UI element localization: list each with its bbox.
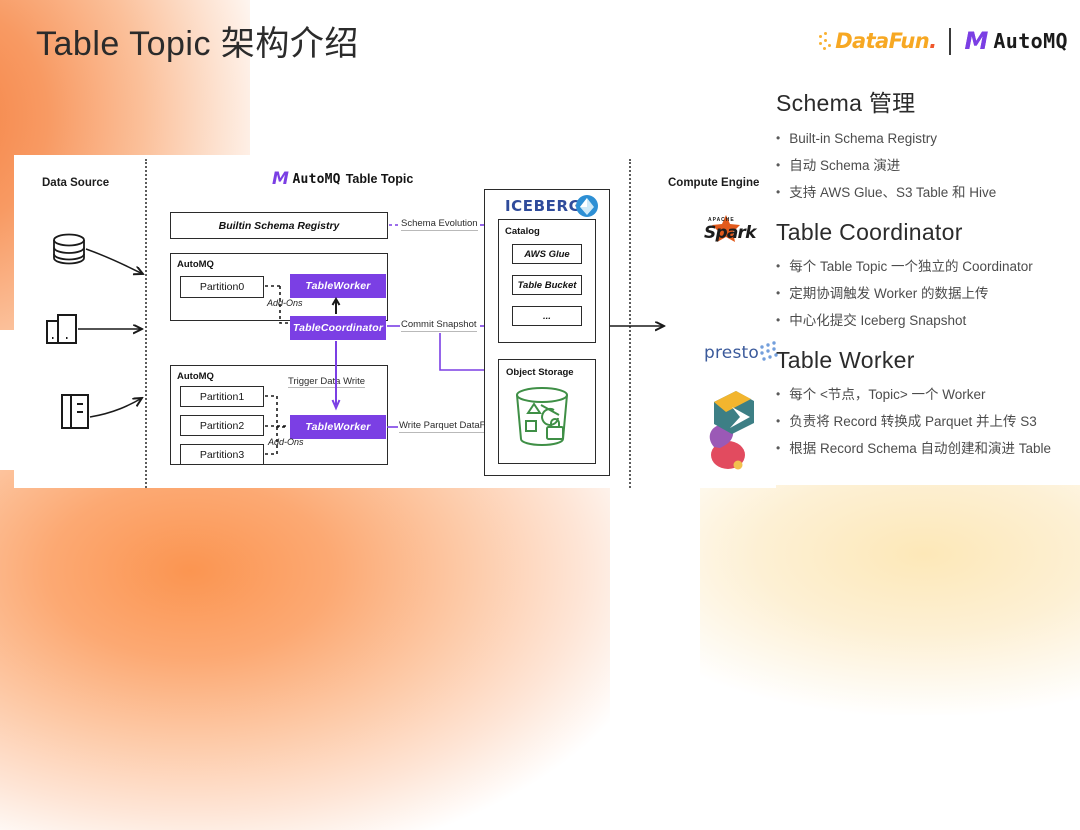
iceberg-title: ICEBERG [505, 197, 582, 215]
spark-apache-label: APACHE [708, 217, 735, 223]
partition-box-3: Partition3 [180, 444, 264, 465]
data-source-arrows [78, 249, 143, 417]
automq-mark-icon: M [964, 27, 986, 55]
bullet-icon: • [776, 257, 780, 277]
presto-wordmark: presto [704, 343, 759, 363]
add-ons-label-top: Add-Ons [267, 298, 303, 308]
data-source-icons-and-arrows [14, 155, 776, 488]
builtin-schema-registry-box: Builtin Schema Registry [170, 212, 388, 239]
section-heading-table-coordinator: Table Coordinator [776, 219, 1076, 246]
section-bullets-table-coordinator: •每个 Table Topic 一个独立的 Coordinator •定期协调触… [776, 257, 1076, 331]
object-storage-bucket-icon [14, 155, 776, 488]
datafun-logo: DataFun. [819, 29, 936, 53]
catalog-item-aws-glue: AWS Glue [512, 244, 582, 264]
add-ons-label-bottom: Add-Ons [268, 437, 304, 447]
section-heading-table-worker: Table Worker [776, 347, 1076, 374]
list-item: •每个 Table Topic 一个独立的 Coordinator [776, 257, 1076, 277]
bullet-icon: • [776, 311, 780, 331]
list-item: •中心化提交 Iceberg Snapshot [776, 311, 1076, 331]
background-gradient-bottom-right [700, 485, 1080, 715]
section-header-automq-table-topic: M AutoMQ Table Topic [272, 169, 413, 189]
compute-engine-logos [14, 155, 776, 488]
catalog-item-more: ... [512, 306, 582, 326]
table-topic-label: Table Topic [346, 172, 414, 186]
list-item: •每个 <节点，Topic> 一个 Worker [776, 385, 1076, 405]
partition-box-1: Partition1 [180, 386, 264, 407]
table-worker-box-top: TableWorker [290, 274, 386, 298]
database-icon [54, 235, 84, 264]
internal-connectors [14, 155, 776, 488]
datafun-dots-icon [819, 32, 832, 51]
trigger-data-write-label: Trigger Data Write [288, 376, 365, 388]
bullet-icon: • [776, 284, 780, 304]
partition-label: Partition2 [200, 420, 244, 432]
automq-logo: M AutoMQ [964, 27, 1068, 55]
bullet-icon: • [776, 156, 780, 176]
divider-data-source [145, 159, 147, 488]
flow-label-schema-evolution: Schema Evolution [401, 218, 478, 231]
automq-wordmark: AutoMQ [993, 29, 1068, 53]
partition-label: Partition1 [200, 391, 244, 403]
documents-icon [47, 315, 76, 343]
divider-compute-engine [629, 159, 631, 488]
table-worker-label: TableWorker [305, 421, 370, 433]
partition-box-2: Partition2 [180, 415, 264, 436]
section-bullets-table-worker: •每个 <节点，Topic> 一个 Worker •负责将 Record 转换成… [776, 385, 1076, 459]
bullet-icon: • [776, 385, 780, 405]
content-sections: Schema 管理 •Built-in Schema Registry •自动 … [776, 84, 1076, 466]
bullet-icon: • [776, 412, 780, 432]
page-title: Table Topic 架构介绍 [36, 16, 359, 65]
table-worker-box-bottom: TableWorker [290, 415, 386, 439]
partition-label: Partition0 [200, 281, 244, 293]
background-gradient-bottom-left [0, 470, 610, 830]
brand-divider [949, 28, 951, 55]
list-item: •自动 Schema 演进 [776, 156, 1076, 176]
partition-label: Partition3 [200, 449, 244, 461]
catalog-item-table-bucket: Table Bucket [512, 275, 582, 295]
list-item: •支持 AWS Glue、S3 Table 和 Hive [776, 183, 1076, 203]
table-worker-label: TableWorker [305, 280, 370, 292]
partition-box-0: Partition0 [180, 276, 264, 298]
list-item: •Built-in Schema Registry [776, 129, 1076, 149]
spark-wordmark: Spark [704, 223, 756, 243]
section-heading-schema: Schema 管理 [776, 84, 1076, 118]
flow-label-commit-snapshot: Commit Snapshot [401, 319, 477, 332]
table-coordinator-box: TableCoordinator [290, 316, 386, 340]
table-coordinator-label: TableCoordinator [293, 322, 383, 334]
column-title-data-source: Data Source [42, 177, 109, 189]
bullet-icon: • [776, 439, 780, 459]
server-icon [62, 395, 88, 428]
column-title-compute-engine: Compute Engine [668, 177, 759, 189]
builtin-schema-registry-label: Builtin Schema Registry [219, 220, 340, 232]
object-storage-label: Object Storage [506, 367, 574, 378]
bullet-icon: • [776, 183, 780, 203]
object-storage-box: Object Storage [498, 359, 596, 464]
architecture-diagram: Data Source Compute Engine M AutoMQ Tabl… [14, 155, 776, 488]
list-item: •负责将 Record 转换成 Parquet 并上传 S3 [776, 412, 1076, 432]
starrocks-icon [714, 391, 754, 434]
catalog-label: Catalog [505, 226, 540, 237]
automq-node-top-label: AutoMQ [177, 259, 214, 270]
iceberg-logo-icon [14, 155, 776, 488]
automq-node-bottom-label: AutoMQ [177, 371, 214, 382]
automq-mark-icon: M [272, 169, 288, 189]
datafun-wordmark: DataFun. [835, 29, 936, 53]
automq-product-name: AutoMQ [293, 172, 341, 187]
brand-bar: DataFun. M AutoMQ [819, 27, 1068, 55]
list-item: •根据 Record Schema 自动创建和演进 Table [776, 439, 1076, 459]
list-item: •定期协调触发 Worker 的数据上传 [776, 284, 1076, 304]
bullet-icon: • [776, 129, 780, 149]
section-bullets-schema: •Built-in Schema Registry •自动 Schema 演进 … [776, 129, 1076, 203]
apache-flink-icon [710, 416, 745, 469]
